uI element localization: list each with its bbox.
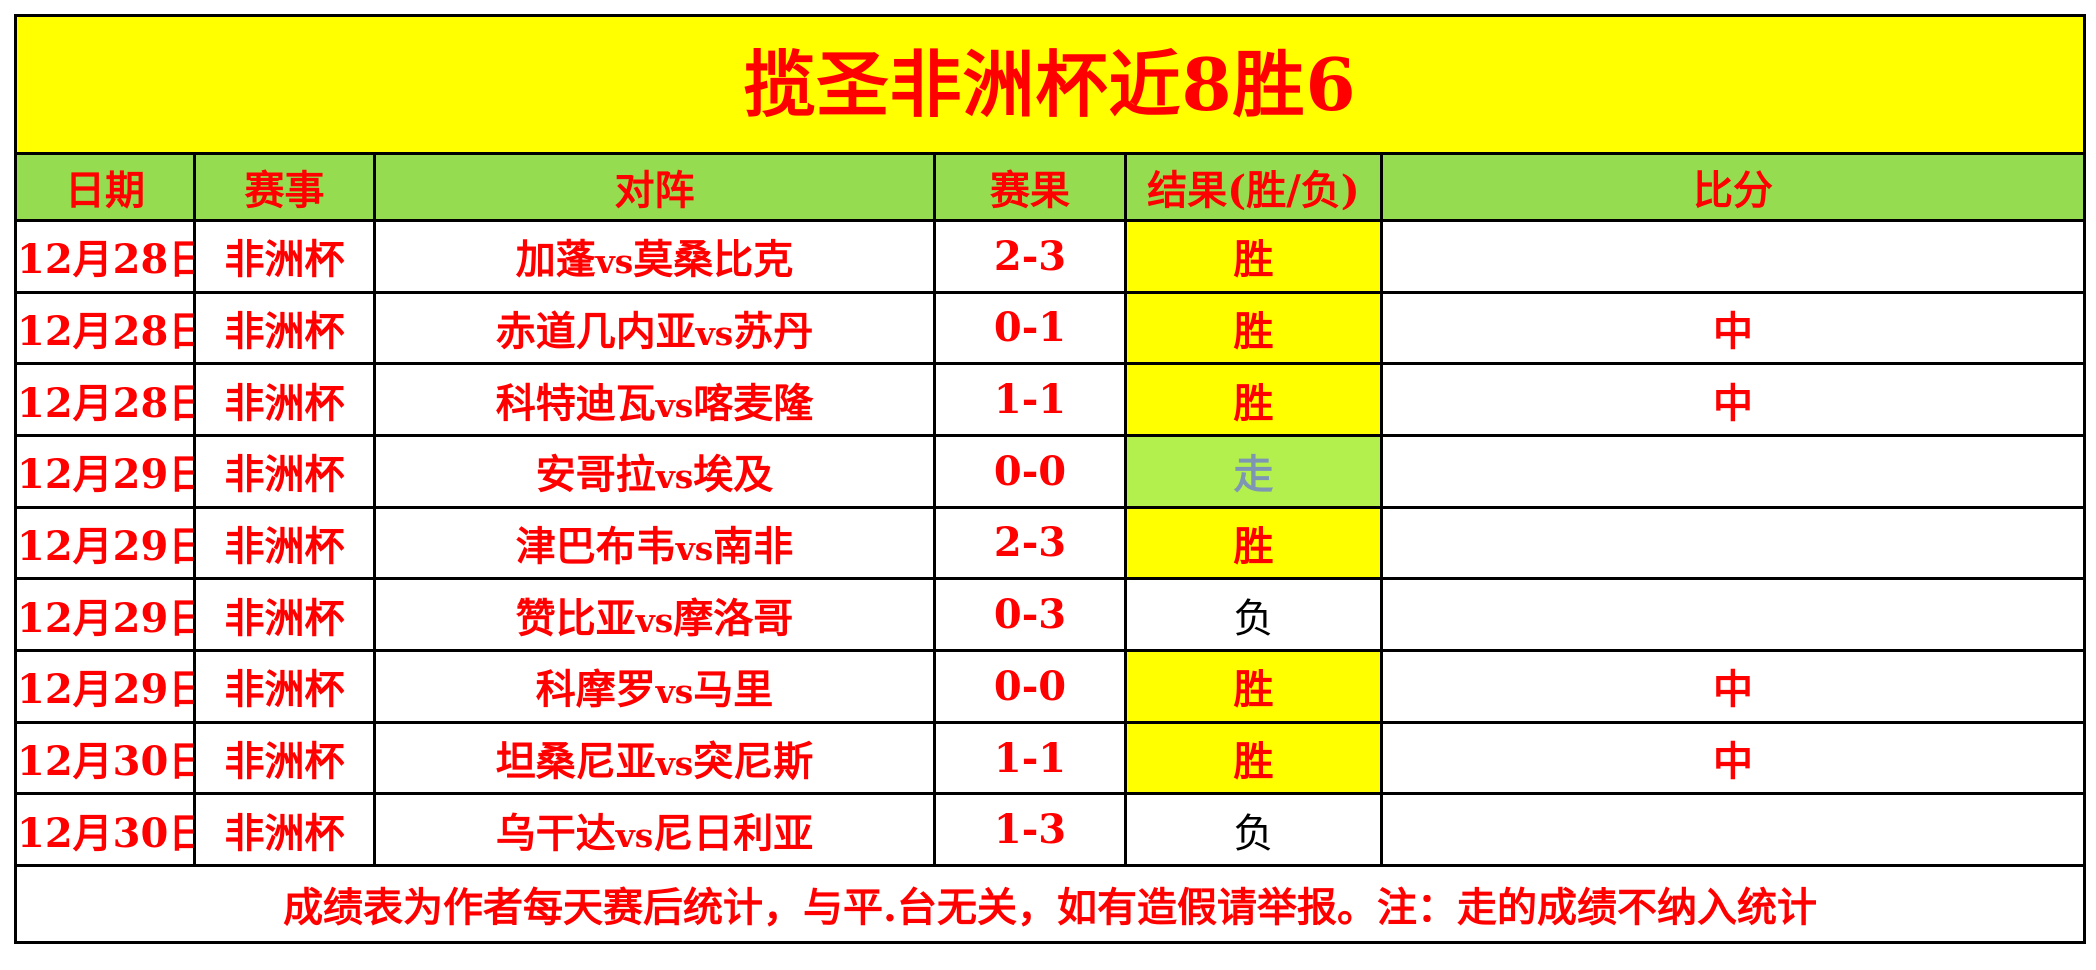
cell-handicap xyxy=(1382,435,2085,507)
cell-result: 胜 xyxy=(1126,507,1382,579)
versus-label: vs xyxy=(656,744,694,783)
versus-label: vs xyxy=(696,314,734,353)
away-team: 南非 xyxy=(713,523,793,570)
cell-score: 0-0 xyxy=(935,650,1126,722)
table-row: 12月29日非洲杯安哥拉vs埃及0-0走 xyxy=(16,435,2085,507)
home-team: 科特迪瓦 xyxy=(496,380,656,427)
cell-result: 负 xyxy=(1126,579,1382,651)
cell-date: 12月29日 xyxy=(16,507,195,579)
results-sheet: 揽圣非洲杯近8胜6 日期 赛事 对阵 赛果 结果(胜/负) 比分 12月28日非… xyxy=(14,14,2083,944)
table-row: 12月29日非洲杯津巴布韦vs南非2-3胜 xyxy=(16,507,2085,579)
cell-handicap: 中 xyxy=(1382,292,2085,364)
page-title: 揽圣非洲杯近8胜6 xyxy=(16,16,2085,154)
cell-competition: 非洲杯 xyxy=(195,794,375,866)
table-row: 12月30日非洲杯坦桑尼亚vs突尼斯1-1胜中 xyxy=(16,722,2085,794)
cell-score: 0-3 xyxy=(935,579,1126,651)
cell-result: 负 xyxy=(1126,794,1382,866)
cell-handicap: 中 xyxy=(1382,722,2085,794)
versus-label: vs xyxy=(656,672,694,711)
cell-matchup: 乌干达vs尼日利亚 xyxy=(375,794,935,866)
cell-score: 1-1 xyxy=(935,722,1126,794)
table-row: 12月28日非洲杯科特迪瓦vs喀麦隆1-1胜中 xyxy=(16,364,2085,436)
cell-date: 12月29日 xyxy=(16,650,195,722)
title-row: 揽圣非洲杯近8胜6 xyxy=(16,16,2085,154)
cell-result: 走 xyxy=(1126,435,1382,507)
away-team: 苏丹 xyxy=(733,308,813,355)
cell-handicap xyxy=(1382,579,2085,651)
home-team: 赞比亚 xyxy=(516,595,636,642)
cell-date: 12月28日 xyxy=(16,220,195,292)
versus-label: vs xyxy=(656,457,694,496)
cell-matchup: 科摩罗vs马里 xyxy=(375,650,935,722)
versus-label: vs xyxy=(616,816,654,855)
cell-competition: 非洲杯 xyxy=(195,435,375,507)
away-team: 摩洛哥 xyxy=(673,595,793,642)
cell-result: 胜 xyxy=(1126,292,1382,364)
table-row: 12月30日非洲杯乌干达vs尼日利亚1-3负 xyxy=(16,794,2085,866)
versus-label: vs xyxy=(636,601,674,640)
cell-date: 12月29日 xyxy=(16,579,195,651)
cell-handicap xyxy=(1382,507,2085,579)
table-row: 12月29日非洲杯科摩罗vs马里0-0胜中 xyxy=(16,650,2085,722)
away-team: 尼日利亚 xyxy=(653,810,813,857)
versus-label: vs xyxy=(676,529,714,568)
column-header-score: 赛果 xyxy=(935,154,1126,221)
versus-label: vs xyxy=(596,242,634,281)
away-team: 埃及 xyxy=(693,451,773,498)
cell-matchup: 坦桑尼亚vs突尼斯 xyxy=(375,722,935,794)
home-team: 赤道几内亚 xyxy=(496,308,696,355)
header-row: 日期 赛事 对阵 赛果 结果(胜/负) 比分 xyxy=(16,154,2085,221)
cell-score: 1-3 xyxy=(935,794,1126,866)
cell-date: 12月30日 xyxy=(16,722,195,794)
cell-score: 0-1 xyxy=(935,292,1126,364)
footer-row: 成绩表为作者每天赛后统计，与平.台无关，如有造假请举报。注：走的成绩不纳入统计 xyxy=(16,866,2085,943)
home-team: 津巴布韦 xyxy=(516,523,676,570)
away-team: 马里 xyxy=(693,666,773,713)
cell-result: 胜 xyxy=(1126,220,1382,292)
column-header-date: 日期 xyxy=(16,154,195,221)
cell-date: 12月28日 xyxy=(16,364,195,436)
cell-matchup: 赞比亚vs摩洛哥 xyxy=(375,579,935,651)
cell-score: 0-0 xyxy=(935,435,1126,507)
cell-competition: 非洲杯 xyxy=(195,292,375,364)
cell-handicap: 中 xyxy=(1382,364,2085,436)
cell-competition: 非洲杯 xyxy=(195,650,375,722)
cell-matchup: 科特迪瓦vs喀麦隆 xyxy=(375,364,935,436)
cell-handicap xyxy=(1382,220,2085,292)
cell-matchup: 赤道几内亚vs苏丹 xyxy=(375,292,935,364)
home-team: 安哥拉 xyxy=(536,451,656,498)
cell-matchup: 津巴布韦vs南非 xyxy=(375,507,935,579)
cell-score: 2-3 xyxy=(935,220,1126,292)
cell-handicap xyxy=(1382,794,2085,866)
cell-matchup: 加蓬vs莫桑比克 xyxy=(375,220,935,292)
away-team: 喀麦隆 xyxy=(693,380,813,427)
column-header-handicap: 比分 xyxy=(1382,154,2085,221)
cell-result: 胜 xyxy=(1126,650,1382,722)
versus-label: vs xyxy=(656,386,694,425)
cell-date: 12月29日 xyxy=(16,435,195,507)
away-team: 突尼斯 xyxy=(693,738,813,785)
cell-competition: 非洲杯 xyxy=(195,579,375,651)
cell-matchup: 安哥拉vs埃及 xyxy=(375,435,935,507)
cell-competition: 非洲杯 xyxy=(195,507,375,579)
cell-result: 胜 xyxy=(1126,722,1382,794)
cell-score: 1-1 xyxy=(935,364,1126,436)
cell-result: 胜 xyxy=(1126,364,1382,436)
cell-competition: 非洲杯 xyxy=(195,220,375,292)
away-team: 莫桑比克 xyxy=(633,236,793,283)
home-team: 加蓬 xyxy=(516,236,596,283)
cell-score: 2-3 xyxy=(935,507,1126,579)
table-row: 12月28日非洲杯赤道几内亚vs苏丹0-1胜中 xyxy=(16,292,2085,364)
home-team: 坦桑尼亚 xyxy=(496,738,656,785)
table-row: 12月28日非洲杯加蓬vs莫桑比克2-3胜 xyxy=(16,220,2085,292)
disclaimer-note: 成绩表为作者每天赛后统计，与平.台无关，如有造假请举报。注：走的成绩不纳入统计 xyxy=(16,866,2085,943)
results-table: 揽圣非洲杯近8胜6 日期 赛事 对阵 赛果 结果(胜/负) 比分 12月28日非… xyxy=(14,14,2086,944)
table-row: 12月29日非洲杯赞比亚vs摩洛哥0-3负 xyxy=(16,579,2085,651)
cell-competition: 非洲杯 xyxy=(195,722,375,794)
cell-date: 12月28日 xyxy=(16,292,195,364)
column-header-result: 结果(胜/负) xyxy=(1126,154,1382,221)
cell-date: 12月30日 xyxy=(16,794,195,866)
home-team: 科摩罗 xyxy=(536,666,656,713)
home-team: 乌干达 xyxy=(496,810,616,857)
cell-handicap: 中 xyxy=(1382,650,2085,722)
column-header-matchup: 对阵 xyxy=(375,154,935,221)
column-header-competition: 赛事 xyxy=(195,154,375,221)
cell-competition: 非洲杯 xyxy=(195,364,375,436)
